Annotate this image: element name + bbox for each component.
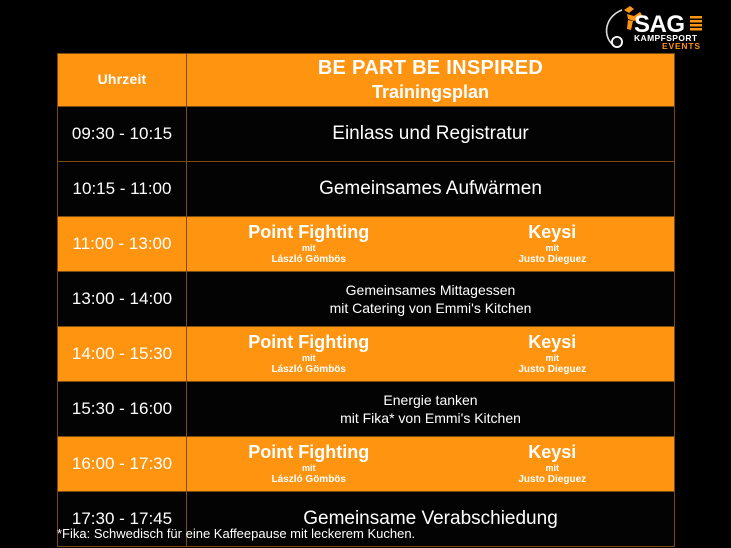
class-title: Keysi bbox=[431, 442, 675, 463]
session-cell: Einlass und Registratur bbox=[187, 107, 675, 162]
parallel-sessions: Point FightingmitLászló GömbösKeysimitJu… bbox=[187, 332, 674, 376]
header-row: Uhrzeit BE PART BE INSPIRED Trainingspla… bbox=[58, 54, 675, 107]
session-title: Energie tanken bbox=[187, 391, 674, 409]
fika-footnote: *Fika: Schwedisch für eine Kaffeepause m… bbox=[57, 526, 415, 541]
class-with-label: mit bbox=[187, 243, 431, 254]
time-slot-cell: 11:00 - 13:00 bbox=[58, 217, 187, 272]
session-cell: Point FightingmitLászló GömbösKeysimitJu… bbox=[187, 437, 675, 492]
session-cell: Gemeinsames Mittagessenmit Catering von … bbox=[187, 272, 675, 327]
class-instructor: László Gömbös bbox=[187, 254, 431, 266]
class-title: Point Fighting bbox=[187, 442, 431, 463]
time-slot-cell: 16:00 - 17:30 bbox=[58, 437, 187, 492]
session-detail: mit Catering von Emmi's Kitchen bbox=[187, 299, 674, 317]
parallel-sessions: Point FightingmitLászló GömbösKeysimitJu… bbox=[187, 222, 674, 266]
sag-kampfsport-events-logo: SAG KAMPFSPORT EVENTS bbox=[600, 4, 725, 50]
session-keysi: KeysimitJusto Dieguez bbox=[431, 332, 675, 376]
time-slot-cell: 14:00 - 15:30 bbox=[58, 327, 187, 382]
schedule-row: 09:30 - 10:15Einlass und Registratur bbox=[58, 107, 675, 162]
schedule-row: 15:30 - 16:00Energie tankenmit Fika* von… bbox=[58, 382, 675, 437]
class-instructor: László Gömbös bbox=[187, 364, 431, 376]
class-instructor: Justo Dieguez bbox=[431, 474, 675, 486]
time-slot-cell: 15:30 - 16:00 bbox=[58, 382, 187, 437]
class-with-label: mit bbox=[187, 353, 431, 364]
schedule-header: Uhrzeit BE PART BE INSPIRED Trainingspla… bbox=[58, 54, 675, 107]
class-instructor: László Gömbös bbox=[187, 474, 431, 486]
session-cell: Gemeinsames Aufwärmen bbox=[187, 162, 675, 217]
session-block: Gemeinsames Mittagessenmit Catering von … bbox=[187, 281, 674, 317]
class-with-label: mit bbox=[431, 243, 675, 254]
class-instructor: Justo Dieguez bbox=[431, 254, 675, 266]
class-title: Keysi bbox=[431, 222, 675, 243]
class-title: Keysi bbox=[431, 332, 675, 353]
session-keysi: KeysimitJusto Dieguez bbox=[431, 442, 675, 486]
session-cell: Point FightingmitLászló GömbösKeysimitJu… bbox=[187, 217, 675, 272]
header-slogan: BE PART BE INSPIRED bbox=[187, 56, 674, 81]
session-point-fighting: Point FightingmitLászló Gömbös bbox=[187, 222, 431, 266]
schedule-row: 11:00 - 13:00Point FightingmitLászló Göm… bbox=[58, 217, 675, 272]
class-title: Point Fighting bbox=[187, 222, 431, 243]
time-slot-cell: 10:15 - 11:00 bbox=[58, 162, 187, 217]
session-point-fighting: Point FightingmitLászló Gömbös bbox=[187, 442, 431, 486]
session-title: Gemeinsames Aufwärmen bbox=[187, 177, 674, 201]
schedule-row: 16:00 - 17:30Point FightingmitLászló Göm… bbox=[58, 437, 675, 492]
header-time-column: Uhrzeit bbox=[58, 54, 187, 107]
session-title: Einlass und Registratur bbox=[187, 122, 674, 146]
session-keysi: KeysimitJusto Dieguez bbox=[431, 222, 675, 266]
logo-artwork: SAG KAMPFSPORT EVENTS bbox=[600, 4, 725, 50]
schedule-row: 10:15 - 11:00Gemeinsames Aufwärmen bbox=[58, 162, 675, 217]
training-schedule-table: Uhrzeit BE PART BE INSPIRED Trainingspla… bbox=[57, 53, 675, 547]
class-with-label: mit bbox=[187, 463, 431, 474]
class-instructor: Justo Dieguez bbox=[431, 364, 675, 376]
schedule-row: 13:00 - 14:00Gemeinsames Mittagessenmit … bbox=[58, 272, 675, 327]
schedule-row: 14:00 - 15:30Point FightingmitLászló Göm… bbox=[58, 327, 675, 382]
schedule-body: 09:30 - 10:15Einlass und Registratur10:1… bbox=[58, 107, 675, 547]
svg-text:EVENTS: EVENTS bbox=[662, 41, 701, 50]
class-with-label: mit bbox=[431, 353, 675, 364]
header-subtitle: Trainingsplan bbox=[187, 81, 674, 104]
session-block: Energie tankenmit Fika* von Emmi's Kitch… bbox=[187, 391, 674, 427]
class-with-label: mit bbox=[431, 463, 675, 474]
header-time-label: Uhrzeit bbox=[98, 71, 147, 87]
parallel-sessions: Point FightingmitLászló GömbösKeysimitJu… bbox=[187, 442, 674, 486]
header-title-cell: BE PART BE INSPIRED Trainingsplan bbox=[187, 54, 675, 107]
session-title: Gemeinsames Mittagessen bbox=[187, 281, 674, 299]
session-cell: Point FightingmitLászló GömbösKeysimitJu… bbox=[187, 327, 675, 382]
session-point-fighting: Point FightingmitLászló Gömbös bbox=[187, 332, 431, 376]
time-slot-cell: 09:30 - 10:15 bbox=[58, 107, 187, 162]
session-cell: Energie tankenmit Fika* von Emmi's Kitch… bbox=[187, 382, 675, 437]
class-title: Point Fighting bbox=[187, 332, 431, 353]
session-detail: mit Fika* von Emmi's Kitchen bbox=[187, 409, 674, 427]
time-slot-cell: 13:00 - 14:00 bbox=[58, 272, 187, 327]
